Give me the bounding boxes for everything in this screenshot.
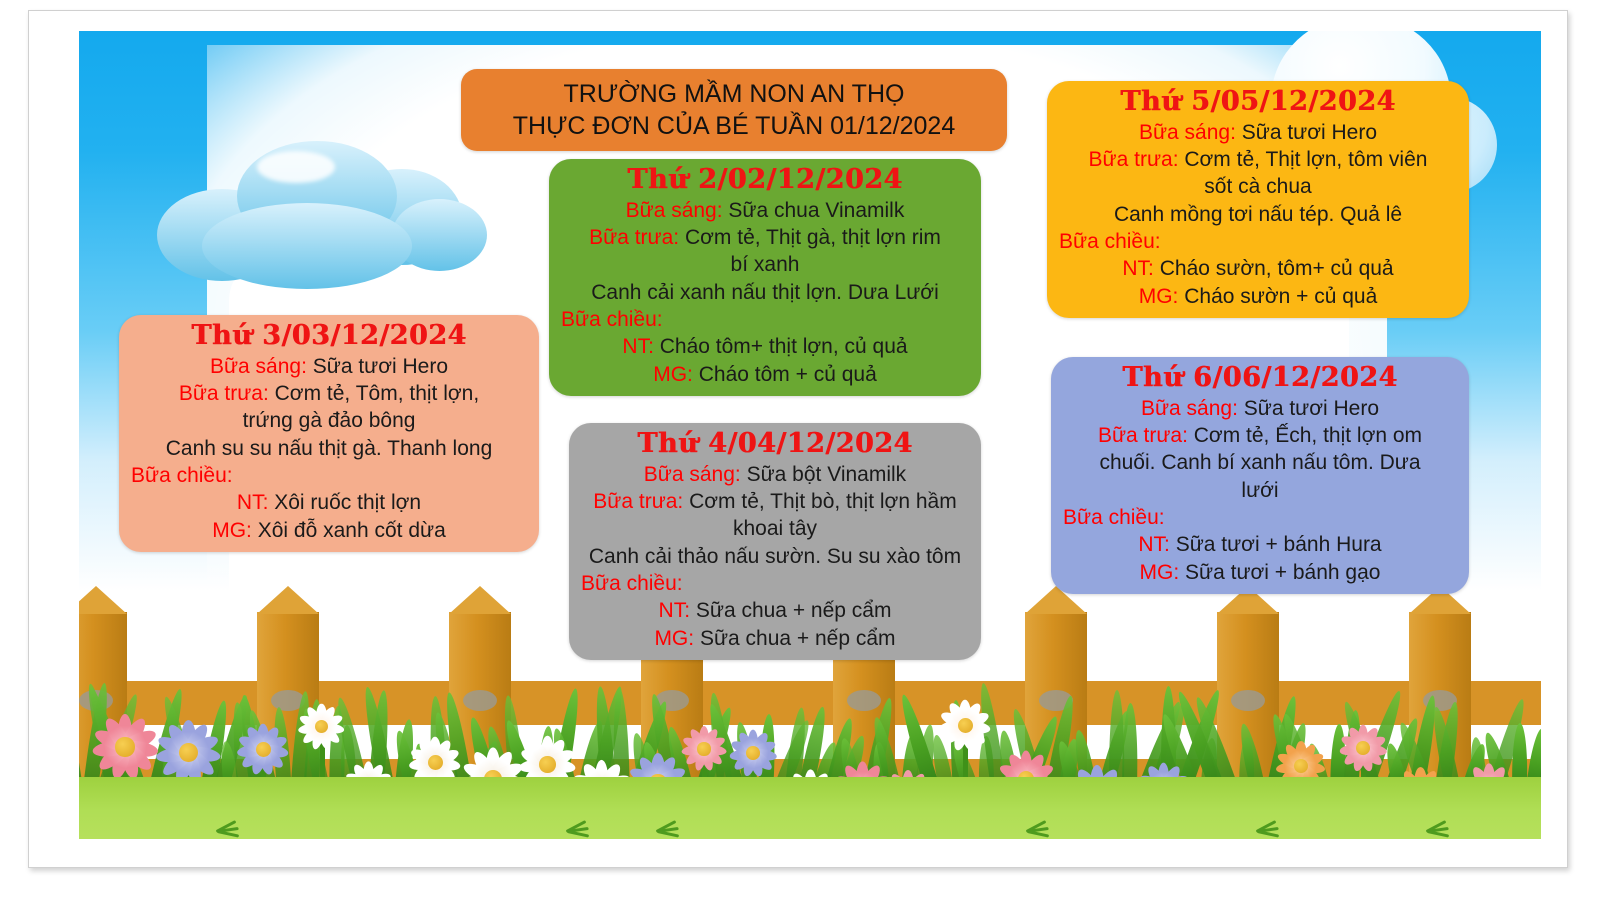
ground-strip [79,777,1541,839]
label-lunch: Bữa trưa: [589,226,679,249]
flower-head [238,724,288,774]
monday-soup-value: Canh cải xanh nấu thịt lợn. Dưa Lưới [561,279,969,306]
day-title-wednesday: Thứ 4/04/12/2024 [581,427,969,461]
wednesday-lunch-value-2: khoai tây [581,515,969,542]
label-mg: MG: [1139,285,1179,308]
thursday-breakfast-row: Bữa sáng: Sữa tươi Hero [1059,119,1457,146]
label-mg: MG: [654,627,694,650]
friday-lunch-value-1: Cơm tẻ, Ếch, thịt lợn om [1194,424,1422,447]
flower-icon [157,721,220,784]
day-title-friday: Thứ 6/06/12/2024 [1063,361,1457,395]
wednesday-breakfast-row: Bữa sáng: Sữa bột Vinamilk [581,461,969,488]
wednesday-nt-row: NT: Sữa chua + nếp cẩm [581,597,969,624]
flower-head [1340,725,1386,771]
day-title-thursday: Thứ 5/05/12/2024 [1059,85,1457,119]
monday-mg-value: Cháo tôm + củ quả [699,363,877,386]
flower-center [256,742,271,757]
monday-lunch-row: Bữa trưa: Cơm tẻ, Thịt gà, thịt lợn rim [561,224,969,251]
tuesday-nt-value: Xôi ruốc thịt lợn [274,491,421,514]
label-dinner-monday: Bữa chiều: [561,306,969,333]
wednesday-mg-value: Sữa chua + nếp cẩm [700,627,896,650]
monday-nt-row: NT: Cháo tôm+ thịt lợn, củ quả [561,333,969,360]
wednesday-mg-row: MG: Sữa chua + nếp cẩm [581,625,969,652]
flower-icon [93,715,157,779]
wednesday-lunch-value-1: Cơm tẻ, Thịt bò, thịt lợn hầm [689,490,957,513]
flower-center [697,742,710,755]
flower-head [682,727,726,771]
flower-head [299,704,344,749]
tuesday-lunch-value-1: Cơm tẻ, Tôm, thịt lợn, [275,382,480,405]
monday-mg-row: MG: Cháo tôm + củ quả [561,361,969,388]
friday-mg-row: MG: Sữa tươi + bánh gạo [1063,559,1457,586]
wednesday-nt-value: Sữa chua + nếp cẩm [696,599,892,622]
monday-nt-value: Cháo tôm+ thịt lợn, củ quả [660,335,908,358]
label-mg: MG: [653,363,693,386]
wednesday-lunch-row: Bữa trưa: Cơm tẻ, Thịt bò, thịt lợn hầm [581,488,969,515]
flower-icon [1340,725,1386,771]
ground-tuft [639,815,679,833]
thursday-nt-value: Cháo sườn, tôm+ củ quả [1160,257,1394,280]
label-breakfast: Bữa sáng: [1141,397,1238,420]
slide-frame: TRƯỜNG MẦM NON AN THỌ THỰC ĐƠN CỦA BÉ TU… [28,10,1568,868]
day-card-tuesday[interactable]: Thứ 3/03/12/2024 Bữa sáng: Sữa tươi Hero… [119,315,539,552]
thursday-lunch-value-1: Cơm tẻ, Thịt lợn, tôm viên [1184,148,1427,171]
tuesday-lunch-value-2: trứng gà đảo bông [131,407,527,434]
label-lunch: Bữa trưa: [1098,424,1188,447]
ground-tuft [1409,815,1449,833]
thursday-nt-row: NT: Cháo sườn, tôm+ củ quả [1059,255,1457,282]
day-title-monday: Thứ 2/02/12/2024 [561,163,969,197]
thursday-lunch-value-2: sốt cà chua [1059,173,1457,200]
label-lunch: Bữa trưa: [593,490,683,513]
thursday-breakfast-value: Sữa tươi Hero [1242,121,1377,144]
wednesday-breakfast-value: Sữa bột Vinamilk [747,463,907,486]
thursday-mg-row: MG: Cháo sườn + củ quả [1059,283,1457,310]
label-dinner-thursday: Bữa chiều: [1059,228,1457,255]
cloud-large-icon [157,141,487,291]
wednesday-soup-value: Canh cải thảo nấu sườn. Su su xào tôm [581,543,969,570]
flower-icon [730,730,776,776]
tuesday-mg-value: Xôi đỗ xanh cốt dừa [258,519,446,542]
monday-lunch-value-2: bí xanh [561,251,969,278]
friday-mg-value: Sữa tươi + bánh gạo [1185,561,1380,584]
ground-tuft [199,815,239,833]
friday-breakfast-value: Sữa tươi Hero [1244,397,1379,420]
label-nt: NT: [1122,257,1154,280]
tuesday-nt-row: NT: Xôi ruốc thịt lợn [131,489,527,516]
ground-tuft [1009,815,1049,833]
flower-center [428,755,443,770]
label-nt: NT: [622,335,654,358]
thursday-soup-value: Canh mồng tơi nấu tép. Quả lê [1059,201,1457,228]
day-card-friday[interactable]: Thứ 6/06/12/2024 Bữa sáng: Sữa tươi Hero… [1051,357,1469,594]
day-card-wednesday[interactable]: Thứ 4/04/12/2024 Bữa sáng: Sữa bột Vinam… [569,423,981,660]
label-mg: MG: [1140,561,1180,584]
day-card-monday[interactable]: Thứ 2/02/12/2024 Bữa sáng: Sữa chua Vina… [549,159,981,396]
flower-icon [299,704,344,749]
flower-icon [238,724,288,774]
flower-center [746,746,760,760]
thursday-mg-value: Cháo sườn + củ quả [1184,285,1377,308]
flower-head [157,721,220,784]
school-name: TRƯỜNG MẦM NON AN THỌ [564,78,905,110]
flower-center [958,718,973,733]
flower-center [115,737,134,756]
flower-icon [682,727,726,771]
label-breakfast: Bữa sáng: [1139,121,1236,144]
flower-center [179,743,198,762]
menu-subtitle: THỰC ĐƠN CỦA BÉ TUẦN 01/12/2024 [513,110,955,142]
tuesday-lunch-row: Bữa trưa: Cơm tẻ, Tôm, thịt lợn, [131,380,527,407]
friday-lunch-value-2: chuối. Canh bí xanh nấu tôm. Dưa [1063,449,1457,476]
monday-lunch-value-1: Cơm tẻ, Thịt gà, thịt lợn rim [685,226,941,249]
label-dinner-tuesday: Bữa chiều: [131,462,527,489]
label-nt: NT: [1138,533,1170,556]
monday-breakfast-row: Bữa sáng: Sữa chua Vinamilk [561,197,969,224]
label-breakfast: Bữa sáng: [644,463,741,486]
flower-icon [940,700,990,750]
flower-head [940,700,990,750]
friday-nt-value: Sữa tươi + bánh Hura [1176,533,1382,556]
day-card-thursday[interactable]: Thứ 5/05/12/2024 Bữa sáng: Sữa tươi Hero… [1047,81,1469,318]
label-breakfast: Bữa sáng: [626,199,723,222]
label-lunch: Bữa trưa: [179,382,269,405]
label-mg: MG: [212,519,252,542]
flower-head [730,730,776,776]
label-lunch: Bữa trưa: [1089,148,1179,171]
tuesday-soup-value: Canh su su nấu thịt gà. Thanh long [131,435,527,462]
label-breakfast: Bữa sáng: [210,355,307,378]
label-dinner-friday: Bữa chiều: [1063,504,1457,531]
friday-lunch-value-3: lưới [1063,477,1457,504]
flower-center [1356,741,1370,755]
poster-title-banner: TRƯỜNG MẦM NON AN THỌ THỰC ĐƠN CỦA BÉ TU… [461,69,1007,151]
friday-lunch-row: Bữa trưa: Cơm tẻ, Ếch, thịt lợn om [1063,422,1457,449]
thursday-lunch-row: Bữa trưa: Cơm tẻ, Thịt lợn, tôm viên [1059,146,1457,173]
tuesday-breakfast-row: Bữa sáng: Sữa tươi Hero [131,353,527,380]
label-dinner-wednesday: Bữa chiều: [581,570,969,597]
flower-center [539,756,556,773]
tuesday-breakfast-value: Sữa tươi Hero [313,355,448,378]
label-nt: NT: [237,491,269,514]
label-nt: NT: [659,599,691,622]
menu-poster-scene: TRƯỜNG MẦM NON AN THỌ THỰC ĐƠN CỦA BÉ TU… [79,31,1541,839]
tuesday-mg-row: MG: Xôi đỗ xanh cốt dừa [131,517,527,544]
day-title-tuesday: Thứ 3/03/12/2024 [131,319,527,353]
monday-breakfast-value: Sữa chua Vinamilk [728,199,904,222]
friday-nt-row: NT: Sữa tươi + bánh Hura [1063,531,1457,558]
ground-tuft [1239,815,1279,833]
ground-tuft [549,815,589,833]
flower-head [93,715,157,779]
friday-breakfast-row: Bữa sáng: Sữa tươi Hero [1063,395,1457,422]
